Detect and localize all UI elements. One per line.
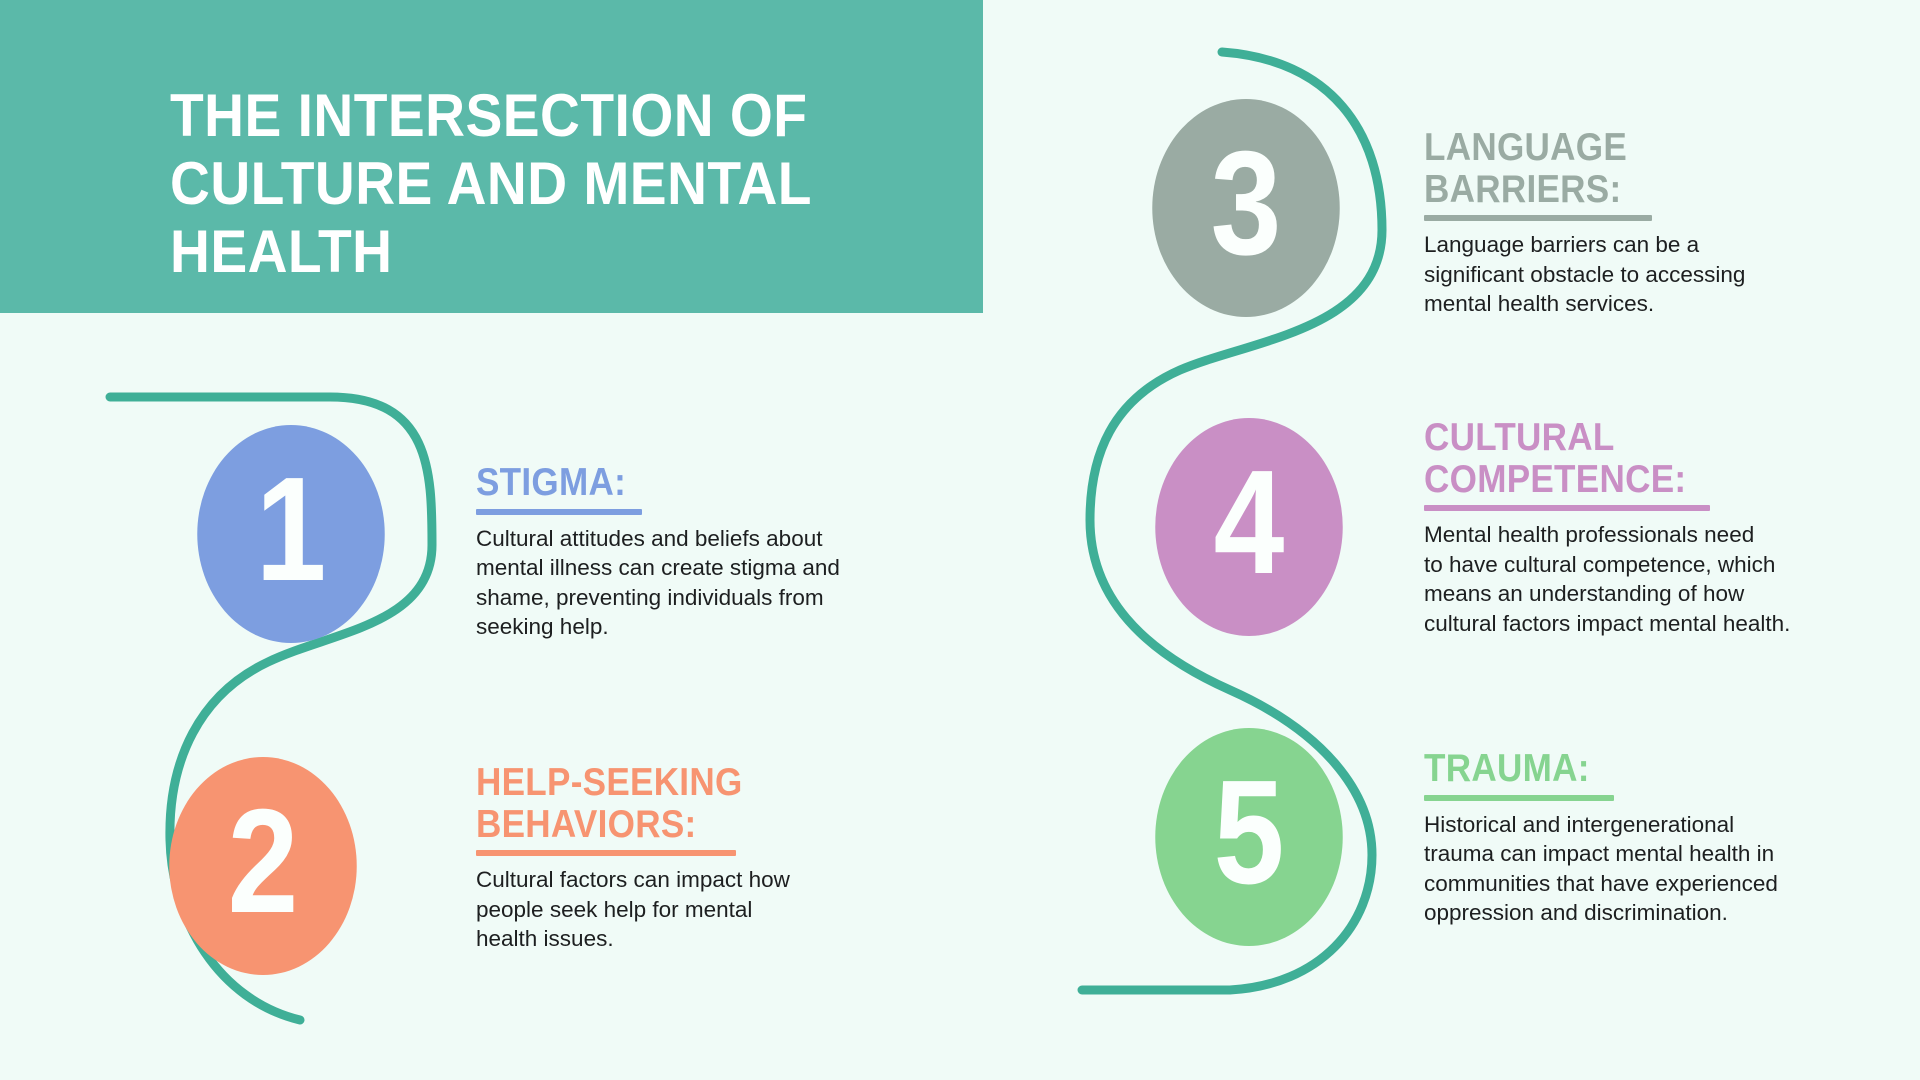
number-label-4: 4 xyxy=(1214,449,1285,597)
entry-body-1: Cultural attitudes and beliefs about men… xyxy=(476,524,856,642)
header-block: THE INTERSECTION OF CULTURE AND MENTAL H… xyxy=(0,0,983,313)
entry-heading-4: CULTURAL COMPETENCE: xyxy=(1424,417,1793,500)
entry-body-3: Language barriers can be a significant o… xyxy=(1424,230,1824,318)
entry-body-2: Cultural factors can impact how people s… xyxy=(476,865,856,953)
number-label-1: 1 xyxy=(256,456,327,604)
entry-heading-2: HELP-SEEKING BEHAVIORS: xyxy=(476,762,818,845)
number-label-2: 2 xyxy=(228,788,299,936)
entry-rule-1 xyxy=(476,509,642,515)
entry-heading-1: STIGMA: xyxy=(476,462,818,504)
number-circle-1: 1 xyxy=(197,425,384,643)
page-title: THE INTERSECTION OF CULTURE AND MENTAL H… xyxy=(170,82,897,285)
entry-block-3: LANGUAGE BARRIERS: Language barriers can… xyxy=(1424,127,1824,319)
number-circle-2: 2 xyxy=(169,757,356,975)
entry-heading-5: TRAUMA: xyxy=(1424,748,1793,790)
number-circle-3: 3 xyxy=(1152,99,1339,317)
entry-heading-3: LANGUAGE BARRIERS: xyxy=(1424,127,1784,210)
entry-rule-3 xyxy=(1424,215,1652,221)
entry-block-1: STIGMA: Cultural attitudes and beliefs a… xyxy=(476,462,856,642)
entry-block-4: CULTURAL COMPETENCE: Mental health profe… xyxy=(1424,417,1834,638)
entry-block-5: TRAUMA: Historical and intergenerational… xyxy=(1424,748,1834,928)
entry-body-5: Historical and intergenerational trauma … xyxy=(1424,810,1834,928)
entry-block-2: HELP-SEEKING BEHAVIORS: Cultural factors… xyxy=(476,762,856,954)
entry-rule-2 xyxy=(476,850,736,856)
number-label-3: 3 xyxy=(1211,130,1282,278)
entry-rule-4 xyxy=(1424,505,1710,511)
infographic-canvas: THE INTERSECTION OF CULTURE AND MENTAL H… xyxy=(0,0,1920,1080)
number-label-5: 5 xyxy=(1214,759,1285,907)
number-circle-4: 4 xyxy=(1155,418,1342,636)
entry-rule-5 xyxy=(1424,795,1614,801)
entry-body-4: Mental health professionals need to have… xyxy=(1424,520,1834,638)
number-circle-5: 5 xyxy=(1155,728,1342,946)
